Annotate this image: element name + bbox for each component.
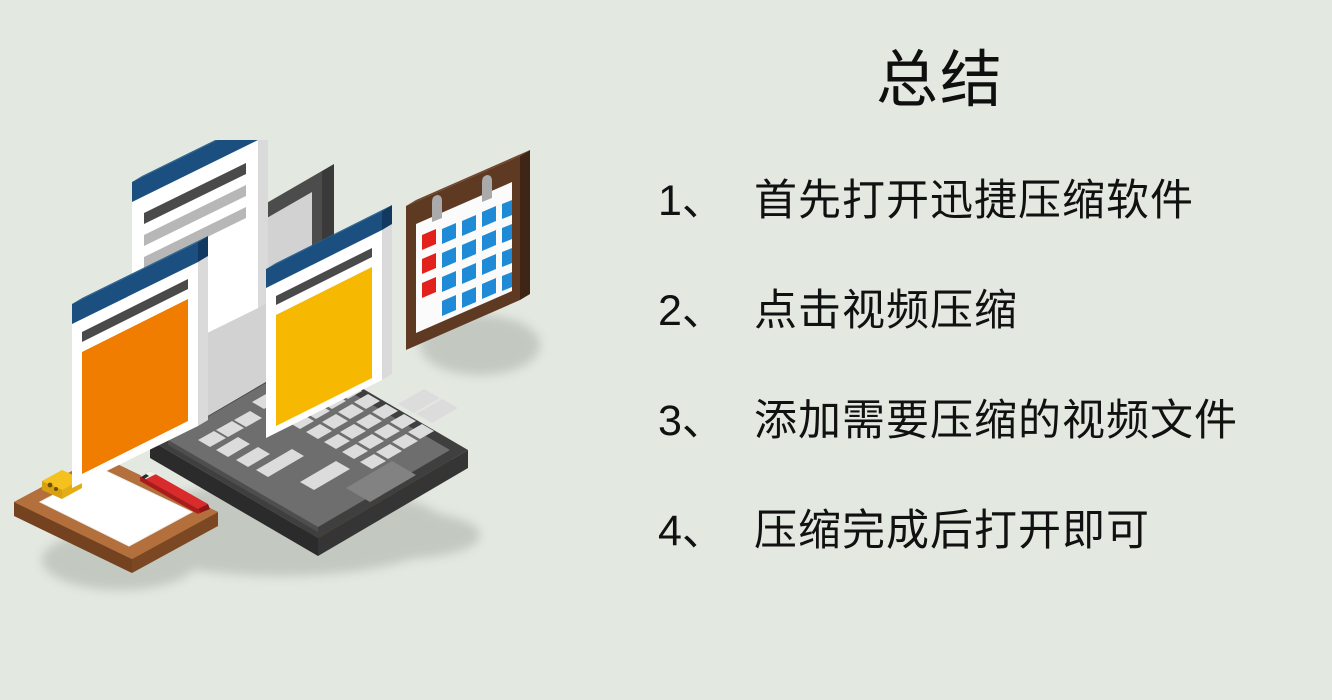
list-item: 2、 点击视频压缩 (658, 288, 1328, 398)
list-item: 3、 添加需要压缩的视频文件 (658, 398, 1328, 508)
step-text: 首先打开迅捷压缩软件 (754, 178, 1194, 225)
page-title: 总结 (640, 48, 1240, 113)
isometric-desk-laptop-illustration (0, 140, 560, 640)
step-text: 添加需要压缩的视频文件 (754, 398, 1238, 445)
list-item: 1、 首先打开迅捷压缩软件 (658, 178, 1328, 288)
step-number: 1、 (658, 178, 754, 225)
slide-root: 总结 1、 首先打开迅捷压缩软件 2、 点击视频压缩 3、 添加需要压缩的视频文… (0, 0, 1332, 700)
step-list: 1、 首先打开迅捷压缩软件 2、 点击视频压缩 3、 添加需要压缩的视频文件 4… (658, 178, 1328, 618)
calendar-cells-red (422, 229, 436, 298)
content-column: 总结 1、 首先打开迅捷压缩软件 2、 点击视频压缩 3、 添加需要压缩的视频文… (640, 0, 1332, 700)
step-number: 4、 (658, 508, 754, 555)
step-text: 点击视频压缩 (754, 288, 1018, 335)
step-text: 压缩完成后打开即可 (754, 508, 1150, 555)
step-number: 2、 (658, 288, 754, 335)
list-item: 4、 压缩完成后打开即可 (658, 508, 1328, 618)
step-number: 3、 (658, 398, 754, 445)
